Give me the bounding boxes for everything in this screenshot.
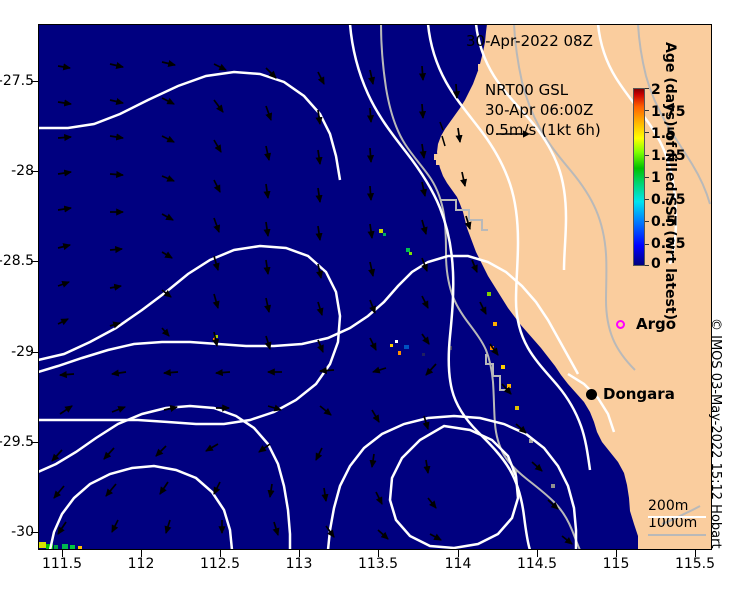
colorbar-tick-label: 2 — [651, 82, 661, 98]
x-tick-label: 115 — [603, 556, 630, 572]
gsl-time-label: 30-Apr 06:00Z — [485, 100, 601, 120]
colorbar-tick — [645, 244, 649, 245]
arrow-right-icon — [497, 128, 531, 140]
x-tick-label: 113.5 — [358, 556, 398, 572]
x-tick-label: 114.5 — [517, 556, 557, 572]
colorbar-tick — [645, 110, 649, 111]
colorbar-tick-label: 1 — [651, 170, 661, 186]
colorbar-widget[interactable]: 2 1.75 1.5 1.25 1 0.75 0.5 0.25 0 — [633, 88, 645, 266]
y-tick-label: -28.5 — [0, 253, 34, 269]
colorbar-gradient — [633, 88, 645, 266]
colorbar-tick — [645, 132, 649, 133]
dongara-place-marker[interactable]: Dongara — [586, 385, 675, 403]
figure-canvas: 111.5 112 112.5 113 113.5 114 114.5 115 … — [0, 0, 740, 592]
colorbar-tick — [645, 221, 649, 222]
copyright-credit: © IMOS 03-May-2022 15:12 Hobart — [708, 318, 723, 549]
y-tick-label: -27.5 — [0, 73, 34, 89]
map-svg — [38, 24, 712, 550]
colorbar-tick — [645, 177, 649, 178]
argo-marker-icon — [616, 320, 625, 329]
x-tick-label: 114 — [445, 556, 472, 572]
gsl-source-label: NRT00 GSL — [485, 80, 601, 100]
dongara-marker-icon — [586, 389, 597, 400]
depth-200m-label: 200m — [648, 498, 697, 515]
x-tick-label: 113 — [286, 556, 313, 572]
y-tick-label: -29.5 — [0, 434, 34, 450]
x-tick-label: 112.5 — [200, 556, 240, 572]
colorbar-tick — [645, 199, 649, 200]
y-tick-label: -28 — [11, 163, 34, 179]
depth-200m-line — [648, 516, 706, 518]
x-tick-label: 112 — [128, 556, 155, 572]
x-tick-label: 115.5 — [675, 556, 715, 572]
depth-1000m-line — [648, 534, 706, 536]
colorbar-tick-label: 0 — [651, 256, 661, 272]
x-tick-label: 111.5 — [42, 556, 82, 572]
colorbar-tick — [645, 155, 649, 156]
y-tick-label: -30 — [11, 524, 34, 540]
dongara-place-label: Dongara — [603, 385, 675, 403]
colorbar-title: Age (days) of filled SST (wrt latest) — [662, 42, 678, 282]
timestamp-annotation: 30-Apr-2022 08Z — [466, 32, 593, 50]
y-tick-label: -29 — [11, 344, 34, 360]
colorbar-tick — [645, 265, 649, 266]
map-plot-area[interactable] — [38, 24, 712, 550]
bathymetry-depth-key: 200m 1000m — [648, 498, 697, 532]
colorbar-tick — [645, 88, 649, 89]
